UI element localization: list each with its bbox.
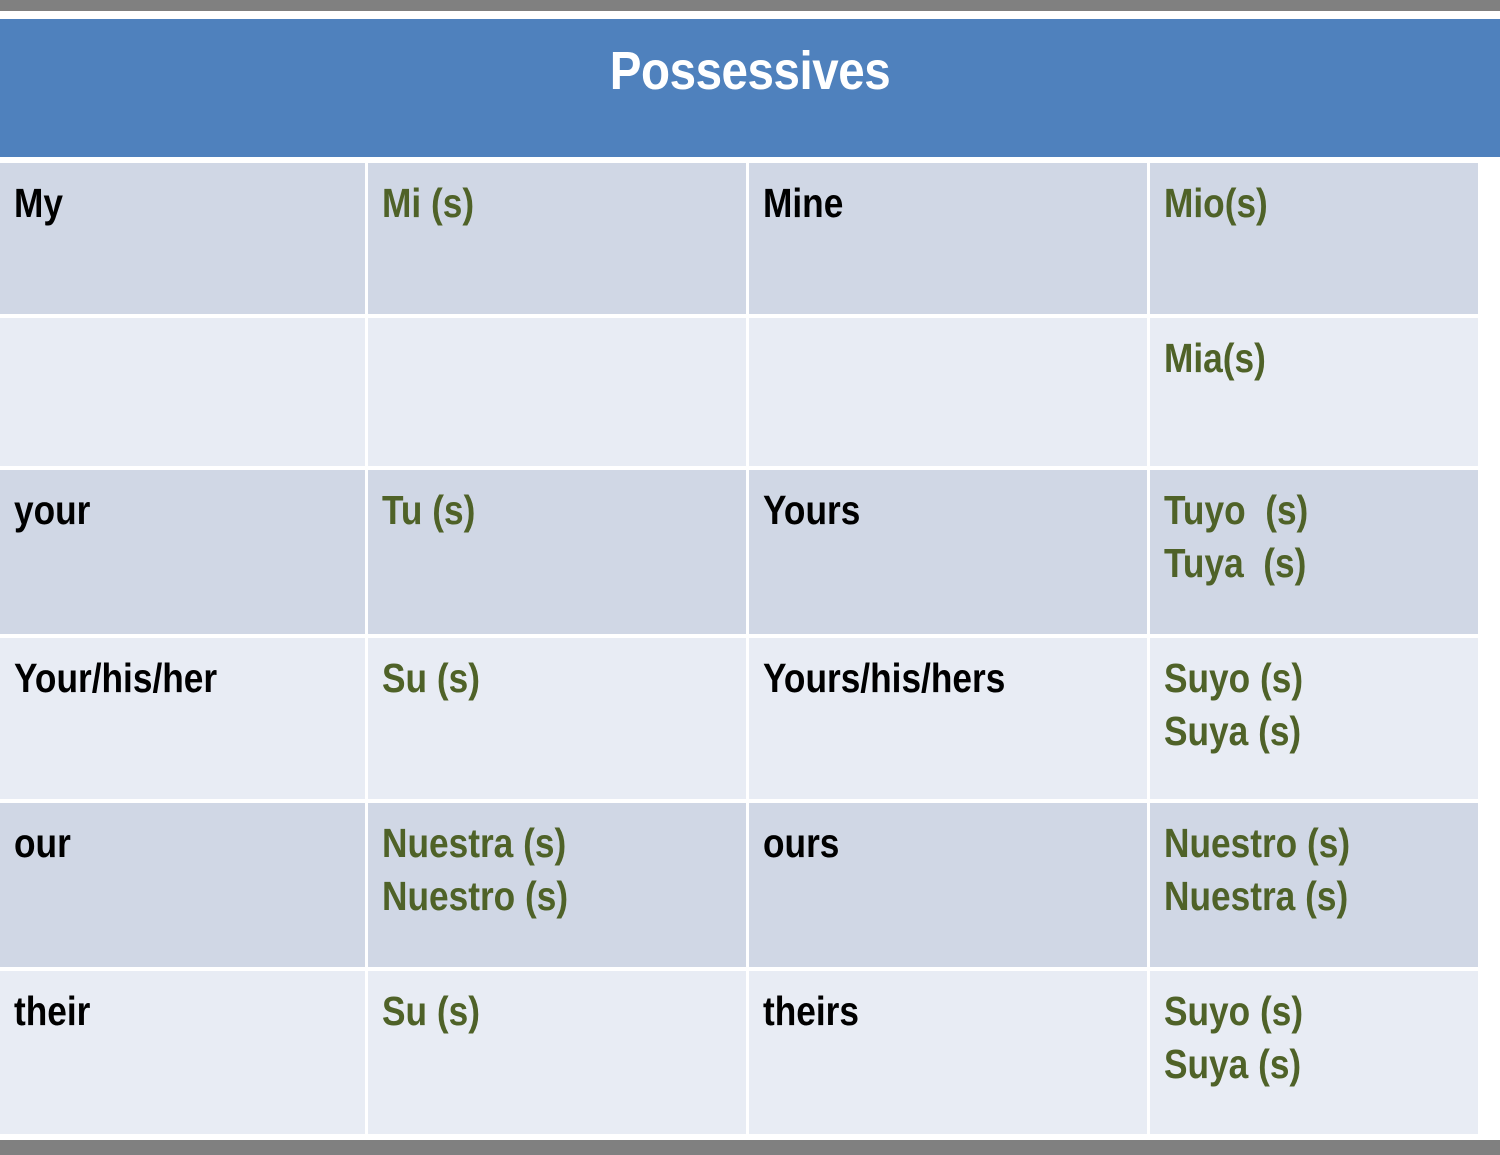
cell-text: your — [14, 484, 90, 537]
cell-text: My — [14, 177, 63, 230]
table-cell-spanish-possessive-pronoun: Suyo (s) Suya (s) — [1150, 638, 1478, 803]
table-cell-spanish-possessive-adjective — [368, 318, 749, 470]
table-cell-spanish-possessive-adjective: Su (s) — [368, 971, 749, 1138]
cell-text: Yours — [763, 484, 860, 537]
cell-text: Mia(s) — [1164, 332, 1266, 385]
cell-text: Suyo (s) Suya (s) — [1164, 985, 1303, 1091]
table-cell-spanish-possessive-pronoun: Suyo (s) Suya (s) — [1150, 971, 1478, 1138]
table-cell-english-possessive-adjective: our — [0, 803, 368, 971]
table-cell-spanish-possessive-pronoun: Nuestro (s) Nuestra (s) — [1150, 803, 1478, 971]
table-cell-spanish-possessive-adjective: Tu (s) — [368, 470, 749, 638]
bottom-decorative-band — [0, 1140, 1500, 1155]
table-cell-english-possessive-adjective: My — [0, 163, 368, 318]
page-title-text: Possessives — [610, 41, 891, 101]
table-cell-english-possessive-pronoun: Mine — [749, 163, 1150, 318]
cell-text: Tu (s) — [382, 484, 475, 537]
cell-text: their — [14, 985, 90, 1038]
table-cell-english-possessive-pronoun: Yours — [749, 470, 1150, 638]
cell-text: ours — [763, 817, 839, 870]
table-cell-spanish-possessive-pronoun: Tuyo (s) Tuya (s) — [1150, 470, 1478, 638]
cell-text: Yours/his/hers — [763, 652, 1005, 705]
table-cell-spanish-possessive-adjective: Mi (s) — [368, 163, 749, 318]
table-cell-english-possessive-adjective: Your/his/her — [0, 638, 368, 803]
table-cell-english-possessive-adjective: their — [0, 971, 368, 1138]
cell-text: Mine — [763, 177, 843, 230]
possessives-table-body: My Mi (s) Mine Mio(s) Mia(s) your Tu (s)… — [0, 163, 1478, 1138]
cell-text: Tuyo (s) Tuya (s) — [1164, 484, 1308, 590]
cell-text: Mi (s) — [382, 177, 474, 230]
cell-text: Your/his/her — [14, 652, 217, 705]
table-row: Your/his/her Su (s) Yours/his/hers Suyo … — [0, 638, 1478, 803]
table-row: Mia(s) — [0, 318, 1478, 470]
table-cell-spanish-possessive-pronoun: Mio(s) — [1150, 163, 1478, 318]
top-decorative-band — [0, 0, 1500, 11]
cell-text: Nuestra (s) Nuestro (s) — [382, 817, 568, 923]
table-cell-english-possessive-pronoun: theirs — [749, 971, 1150, 1138]
cell-text: Mio(s) — [1164, 177, 1268, 230]
table-row: My Mi (s) Mine Mio(s) — [0, 163, 1478, 318]
cell-text: Suyo (s) Suya (s) — [1164, 652, 1303, 758]
table-cell-spanish-possessive-adjective: Su (s) — [368, 638, 749, 803]
cell-text: Nuestro (s) Nuestra (s) — [1164, 817, 1350, 923]
table-cell-spanish-possessive-adjective: Nuestra (s) Nuestro (s) — [368, 803, 749, 971]
cell-text: theirs — [763, 985, 859, 1038]
table-cell-english-possessive-pronoun: Yours/his/hers — [749, 638, 1150, 803]
table-cell-english-possessive-adjective — [0, 318, 368, 470]
table-cell-english-possessive-adjective: your — [0, 470, 368, 638]
table-cell-english-possessive-pronoun — [749, 318, 1150, 470]
possessives-table: My Mi (s) Mine Mio(s) Mia(s) your Tu (s)… — [0, 163, 1478, 1138]
table-cell-english-possessive-pronoun: ours — [749, 803, 1150, 971]
cell-text: Su (s) — [382, 985, 480, 1038]
table-row: their Su (s) theirs Suyo (s) Suya (s) — [0, 971, 1478, 1138]
table-row: your Tu (s) Yours Tuyo (s) Tuya (s) — [0, 470, 1478, 638]
table-row: our Nuestra (s) Nuestro (s) ours Nuestro… — [0, 803, 1478, 971]
cell-text: Su (s) — [382, 652, 480, 705]
slide-title-banner: Possessives — [0, 19, 1500, 157]
table-cell-spanish-possessive-pronoun: Mia(s) — [1150, 318, 1478, 470]
page-title: Possessives — [90, 41, 1410, 101]
cell-text: our — [14, 817, 71, 870]
